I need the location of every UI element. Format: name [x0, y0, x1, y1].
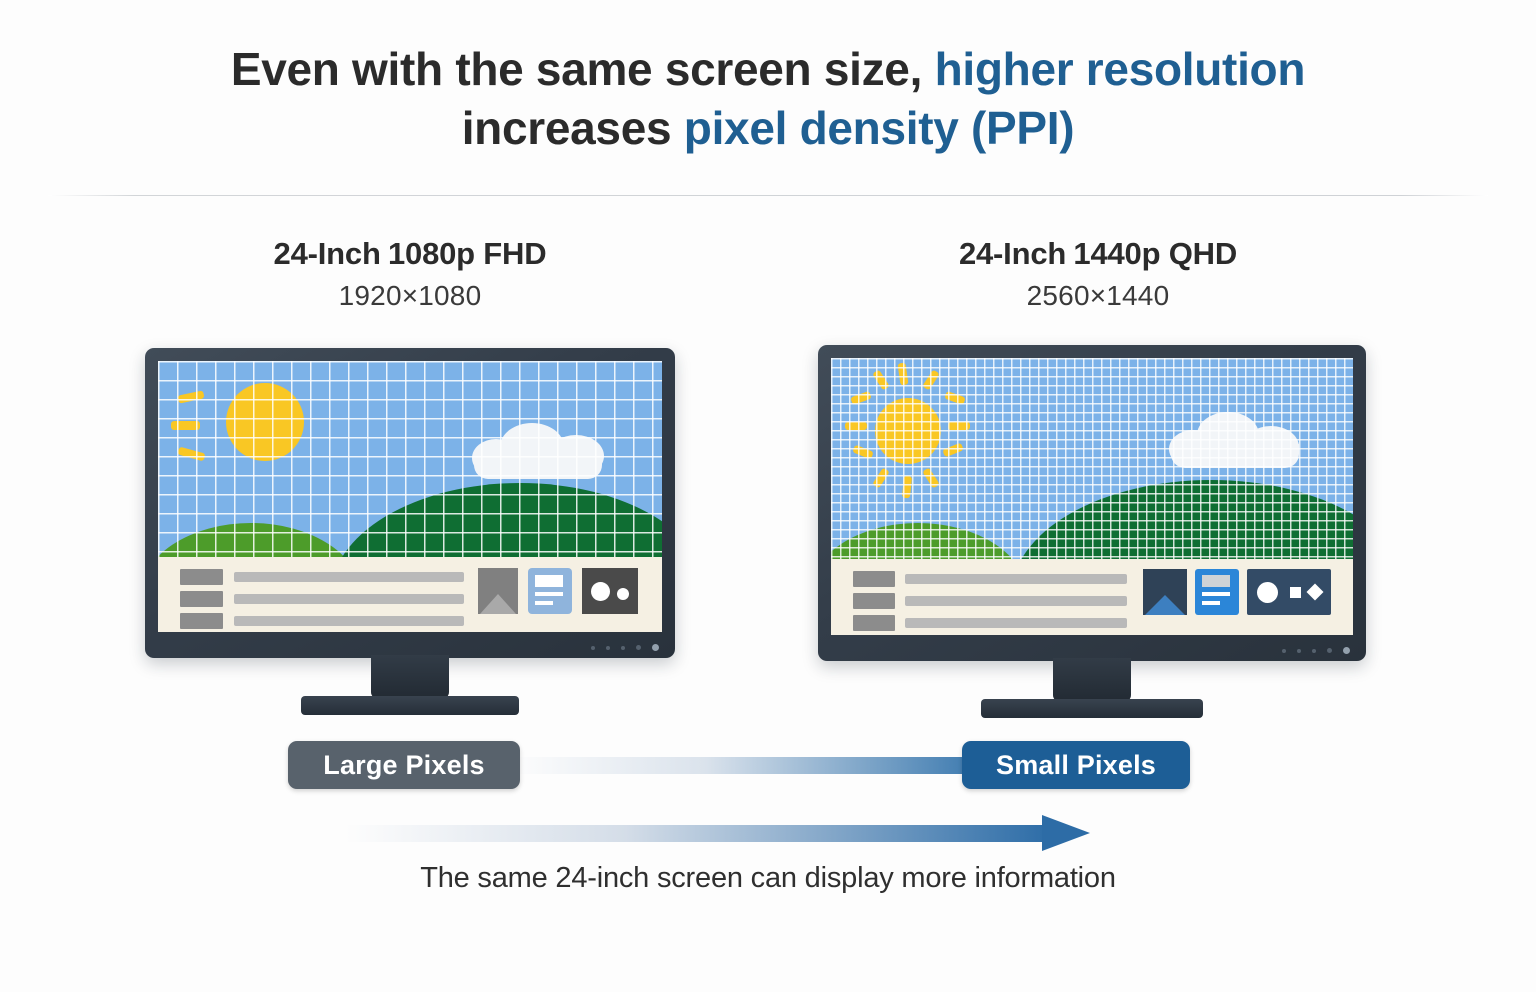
- page-title: Even with the same screen size, higher r…: [0, 40, 1536, 158]
- infographic-canvas: Even with the same screen size, higher r…: [0, 0, 1536, 992]
- badge-large-pixels-label: Large Pixels: [323, 750, 485, 781]
- ui-block: [180, 591, 223, 607]
- monitor-qhd: [818, 345, 1366, 661]
- monitor-bezel-fhd: [145, 348, 675, 658]
- ui-text-line: [234, 572, 464, 582]
- title-divider: [48, 195, 1488, 196]
- panel-res-name-fhd: 1080p FHD: [388, 236, 546, 271]
- monitor-screen-qhd: [831, 358, 1353, 635]
- monitor-bezel-qhd: [818, 345, 1366, 661]
- title-line-2-highlight: pixel density (PPI): [684, 102, 1075, 154]
- ui-strip-qhd: [831, 559, 1353, 635]
- document-card-icon: [1195, 569, 1239, 615]
- panel-size-qhd: 24-Inch: [959, 236, 1066, 271]
- monitor-base-qhd: [981, 699, 1203, 718]
- panel-resolution-qhd: 2560×1440: [818, 280, 1378, 312]
- badge-small-pixels: Small Pixels: [962, 741, 1190, 789]
- image-card-icon: [478, 568, 518, 614]
- progress-arrow-head: [1042, 815, 1090, 851]
- ui-text-line: [234, 594, 464, 604]
- bezel-indicator-dots: [591, 644, 659, 651]
- monitor-neck-qhd: [1053, 658, 1131, 702]
- panel-title-fhd: 24-Inch 1080p FHD: [130, 236, 690, 272]
- panel-heading-fhd: 24-Inch 1080p FHD 1920×1080: [130, 236, 690, 312]
- panel-size-fhd: 24-Inch: [274, 236, 381, 271]
- title-line-1-plain: Even with the same screen size,: [231, 43, 922, 95]
- ui-text-line: [234, 616, 464, 626]
- title-line-1-highlight: higher resolution: [935, 43, 1306, 95]
- progress-arrow-shaft: [345, 825, 1045, 842]
- ui-text-line: [905, 574, 1127, 584]
- ui-strip-fhd: [158, 557, 662, 632]
- ui-block: [853, 571, 895, 587]
- badge-large-pixels: Large Pixels: [288, 741, 520, 789]
- image-card-icon: [1143, 569, 1187, 615]
- title-line-2-plain: increases: [462, 102, 672, 154]
- panel-title-qhd: 24-Inch 1440p QHD: [818, 236, 1378, 272]
- ui-text-line: [905, 596, 1127, 606]
- footer-caption: The same 24-inch screen can display more…: [0, 862, 1536, 895]
- media-card-icon: [1247, 569, 1331, 615]
- panel-heading-qhd: 24-Inch 1440p QHD 2560×1440: [818, 236, 1378, 312]
- bezel-indicator-dots: [1282, 647, 1350, 654]
- badge-small-pixels-label: Small Pixels: [996, 750, 1156, 781]
- pixel-size-connector: [510, 757, 975, 774]
- ui-text-line: [905, 618, 1127, 628]
- monitor-screen-fhd: [158, 361, 662, 632]
- panel-resolution-fhd: 1920×1080: [130, 280, 690, 312]
- monitor-base-fhd: [301, 696, 519, 715]
- ui-block: [853, 615, 895, 631]
- ui-block: [853, 593, 895, 609]
- monitor-neck-fhd: [371, 655, 449, 699]
- ui-block: [180, 569, 223, 585]
- monitor-fhd: [145, 348, 675, 658]
- ui-block: [180, 613, 223, 629]
- panel-res-name-qhd: 1440p QHD: [1073, 236, 1237, 271]
- document-card-icon: [528, 568, 572, 614]
- media-card-icon: [582, 568, 638, 614]
